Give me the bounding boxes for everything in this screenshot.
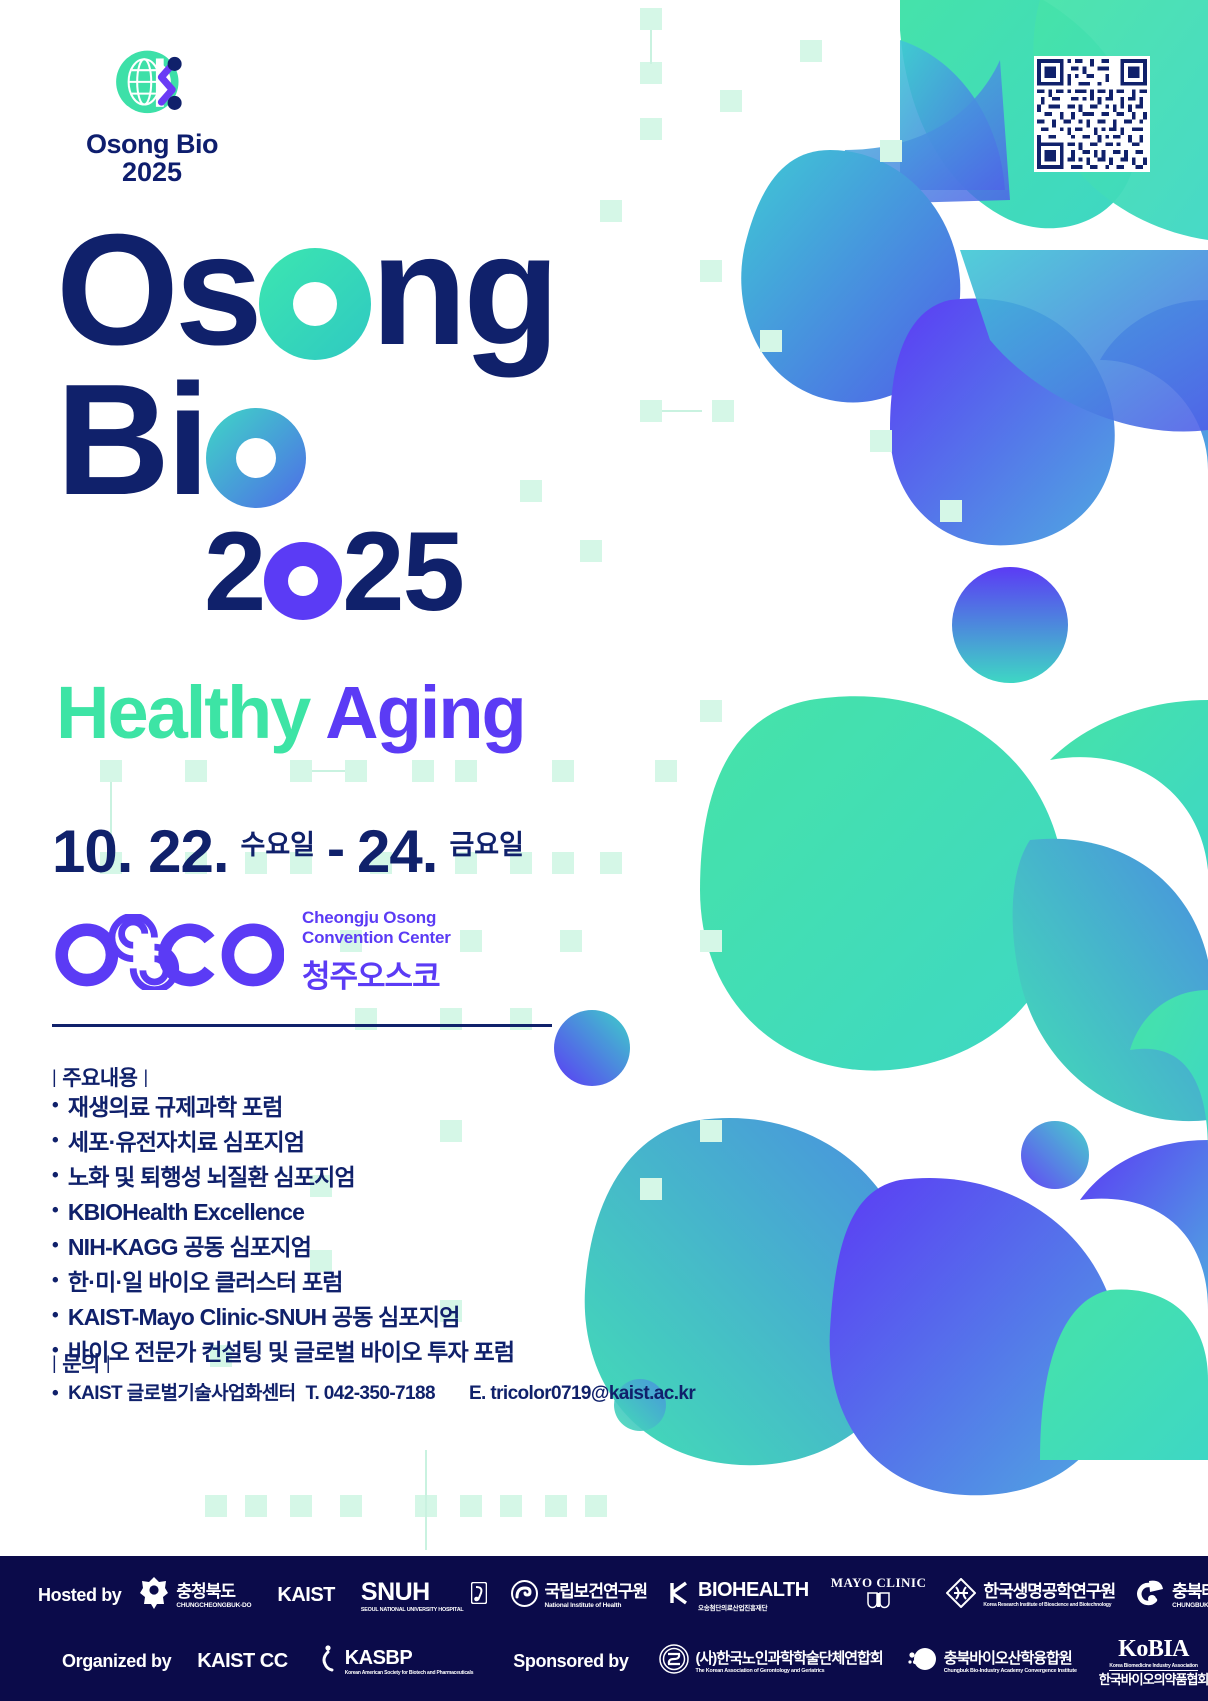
- venue-name-en-line1: Cheongju Osong: [302, 908, 451, 928]
- list-item: • 바이오 전문가 컨설팅 및 글로벌 바이오 투자 포럼: [52, 1335, 514, 1370]
- date-start-weekday: 수요일: [241, 823, 316, 862]
- subtitle-healthy: Healthy: [56, 671, 325, 754]
- globe-molecule-icon: [113, 46, 191, 124]
- logo-text-group: KAIST: [277, 1584, 335, 1607]
- chungbuk-technopark-icon: [1135, 1578, 1165, 1613]
- logo-name-sub: Chungbuk Bio-Industry Academy Convergenc…: [944, 1668, 1077, 1674]
- logo-name-sub: CHUNGCHEONGBUK-DO: [176, 1602, 251, 1609]
- list-item: • 노화 및 퇴행성 뇌질환 심포지엄: [52, 1160, 514, 1195]
- kaist-cc-logo[interactable]: KAIST CC: [197, 1650, 287, 1673]
- kribb-logo[interactable]: 한국생명공학연구원 Korea Research Institute of Bi…: [946, 1578, 1115, 1613]
- contact-phone[interactable]: T. 042-350-7188: [306, 1383, 435, 1405]
- logo-name-sub: Korea Biomedicine Industry Association: [1109, 1663, 1197, 1671]
- logo-name-sub: Korea Research Institute of Bioscience a…: [983, 1602, 1115, 1608]
- snuh-logo[interactable]: SNUH SEOUL NATIONAL UNIVERSITY HOSPITAL: [361, 1578, 487, 1613]
- contact-organization: KAIST 글로벌기술사업화센터: [68, 1378, 295, 1405]
- kbiohealth-k-icon: [669, 1581, 691, 1610]
- title-line-1: Osng: [56, 218, 756, 368]
- logo-name-sub: SEOUL NATIONAL UNIVERSITY HOSPITAL: [361, 1607, 464, 1613]
- contact-block: • KAIST 글로벌기술사업화센터 T. 042-350-7188 E. tr…: [52, 1378, 695, 1405]
- title-line-2-part-a: Bi: [56, 352, 206, 528]
- venue-text: Cheongju Osong Convention Center 청주오스코: [302, 908, 451, 996]
- list-item: • KBIOHealth Excellence: [52, 1195, 514, 1230]
- list-item-label: NIH-KAGG 공동 심포지엄: [68, 1230, 311, 1265]
- logo-name-en: MAYO CLINIC: [831, 1575, 927, 1591]
- list-item: • KAIST-Mayo Clinic-SNUH 공동 심포지엄: [52, 1300, 514, 1335]
- venue-block: Cheongju Osong Convention Center 청주오스코: [52, 908, 451, 996]
- mayo-shield-icon: [866, 1592, 892, 1617]
- venue-name-en-line2: Convention Center: [302, 928, 451, 948]
- kagg-icon: [659, 1644, 689, 1679]
- title-o-blue-icon: [206, 408, 306, 508]
- list-item-label: 노화 및 퇴행성 뇌질환 심포지엄: [68, 1160, 355, 1195]
- list-item-label: 한·미·일 바이오 클러스터 포럼: [68, 1265, 343, 1300]
- bracket-left: |: [52, 1353, 56, 1374]
- osco-logo-icon: [52, 914, 284, 990]
- nih-korea-logo[interactable]: 국립보건연구원 National Institute of Health: [511, 1580, 647, 1612]
- logo-text-group: 국립보건연구원 National Institute of Health: [545, 1583, 647, 1609]
- bullet-icon: •: [52, 1230, 58, 1261]
- logo-text-group: SNUH SEOUL NATIONAL UNIVERSITY HOSPITAL: [361, 1578, 464, 1613]
- bracket-left: |: [52, 1067, 56, 1088]
- sponsored-by-label: Sponsored by: [513, 1651, 628, 1672]
- title-year-25: 25: [342, 509, 463, 634]
- nih-korea-icon: [511, 1580, 538, 1612]
- title-line-3: 225: [204, 520, 756, 628]
- logo-text-group: KASBP Korean American Society for Biotec…: [345, 1647, 474, 1676]
- contact-email[interactable]: E. tricolor0719@kaist.ac.kr: [469, 1383, 695, 1405]
- logo-name-sub: Korean American Society for Biotech and …: [345, 1670, 474, 1676]
- logo-name-sub: The Korean Association of Gerontology an…: [696, 1668, 883, 1674]
- bullet-icon: •: [52, 1300, 58, 1331]
- list-item: • 재생의료 규제과학 포럼: [52, 1090, 514, 1125]
- list-item-label: 바이오 전문가 컨설팅 및 글로벌 바이오 투자 포럼: [68, 1335, 514, 1370]
- cbiaci-icon: [907, 1645, 937, 1678]
- program-list: • 재생의료 규제과학 포럼 • 세포·유전자치료 심포지엄 • 노화 및 퇴행…: [52, 1090, 514, 1370]
- brand-logo: Osong Bio 2025: [52, 46, 252, 187]
- logo-text-group: (사)한국노인과학학술단체연합회 The Korean Association …: [696, 1650, 883, 1674]
- logo-name-ko: (사)한국노인과학학술단체연합회: [696, 1650, 883, 1667]
- logo-name-en: KASBP: [345, 1647, 413, 1669]
- logo-name-sub: 오송첨단의료산업진흥재단: [698, 1602, 809, 1612]
- bullet-icon: •: [52, 1265, 58, 1296]
- list-item-label: KAIST-Mayo Clinic-SNUH 공동 심포지엄: [68, 1300, 460, 1335]
- qr-code-icon[interactable]: [1034, 56, 1150, 172]
- logo-name-en: SNUH: [361, 1578, 430, 1606]
- logo-name-en: KoBIA: [1118, 1636, 1189, 1663]
- brand-name: Osong Bio: [52, 130, 252, 158]
- date-end-weekday: 금요일: [449, 823, 524, 862]
- logo-text-group: 충청북도 CHUNGCHEONGBUK-DO: [176, 1583, 251, 1609]
- organized-sponsored-row: Organized by KAIST CC KASBP Korean Ameri…: [0, 1629, 1208, 1695]
- logo-text-group: BIOHEALTH 오송첨단의료산업진흥재단: [698, 1579, 809, 1612]
- title-line-1-part-b: ng: [371, 202, 556, 378]
- main-title: Osng Bi 225: [56, 218, 756, 628]
- cbiaci-logo[interactable]: 충북바이오산학융합원 Chungbuk Bio-Industry Academy…: [907, 1645, 1077, 1678]
- date-end: 24.: [357, 822, 437, 882]
- program-label-text: 주요내용: [62, 1062, 137, 1092]
- poster-root: Osong Bio 2025: [0, 0, 1208, 1701]
- sponsor-footer: Hosted by 충청북도 CHUNGCHEONGBUK-DO KAIST S…: [0, 1556, 1208, 1701]
- logo-name-ko: 충청북도: [176, 1582, 235, 1601]
- kasbp-logo[interactable]: KASBP Korean American Society for Biotec…: [318, 1645, 474, 1678]
- hosted-by-label: Hosted by: [38, 1585, 121, 1606]
- bullet-icon: •: [52, 1383, 58, 1405]
- hosted-by-row: Hosted by 충청북도 CHUNGCHEONGBUK-DO KAIST S…: [0, 1563, 1208, 1629]
- kobia-logo[interactable]: KoBIA Korea Biomedicine Industry Associa…: [1099, 1636, 1208, 1686]
- logo-name-en: BIOHEALTH: [698, 1579, 809, 1601]
- kagg-logo[interactable]: (사)한국노인과학학술단체연합회 The Korean Association …: [659, 1644, 883, 1679]
- event-date: 10. 22. 수요일 - 24. 금요일: [52, 818, 524, 882]
- logo-name-ko: 충북바이오산학융합원: [944, 1650, 1072, 1667]
- chungcheongbuk-do-icon: [139, 1576, 169, 1615]
- logo-name-en: KAIST CC: [197, 1650, 287, 1673]
- subtitle-aging: Aging: [325, 671, 525, 754]
- bracket-right: |: [106, 1353, 110, 1374]
- bullet-icon: •: [52, 1090, 58, 1121]
- list-item: • 한·미·일 바이오 클러스터 포럼: [52, 1265, 514, 1300]
- kribb-icon: [946, 1578, 976, 1613]
- list-item: • 세포·유전자치료 심포지엄: [52, 1125, 514, 1160]
- list-item-label: 세포·유전자치료 심포지엄: [68, 1125, 304, 1160]
- title-line-2: Bi: [56, 368, 756, 520]
- bullet-icon: •: [52, 1160, 58, 1191]
- contact-label-text: 문의: [62, 1348, 100, 1378]
- logo-text-group: 충북테크노파크 CHUNGBUK TECHNOPARK: [1172, 1583, 1208, 1609]
- logo-name-ko: 한국바이오의약품협회: [1099, 1673, 1208, 1686]
- logo-name-ko: 국립보건연구원: [545, 1582, 647, 1601]
- bullet-icon: •: [52, 1195, 58, 1226]
- logo-name-en: KAIST: [277, 1584, 335, 1606]
- chungcheongbuk-do-logo[interactable]: 충청북도 CHUNGCHEONGBUK-DO: [139, 1576, 251, 1615]
- logo-text-group: 충북바이오산학융합원 Chungbuk Bio-Industry Academy…: [944, 1650, 1077, 1674]
- chungbuk-technopark-logo[interactable]: 충북테크노파크 CHUNGBUK TECHNOPARK: [1135, 1578, 1208, 1613]
- venue-name-ko: 청주오스코: [302, 951, 451, 996]
- logo-text-group: 한국생명공학연구원 Korea Research Institute of Bi…: [983, 1583, 1115, 1608]
- logo-name-sub: National Institute of Health: [545, 1602, 647, 1609]
- list-item-label: KBIOHealth Excellence: [68, 1195, 304, 1230]
- logo-name-sub: CHUNGBUK TECHNOPARK: [1172, 1602, 1208, 1609]
- brand-year: 2025: [52, 158, 252, 186]
- subtitle: Healthy Aging: [56, 670, 525, 755]
- date-start: 10. 22.: [52, 822, 229, 882]
- program-section-label: | 주요내용 |: [52, 1062, 148, 1092]
- logo-name-ko: 한국생명공학연구원: [983, 1582, 1115, 1601]
- mayo-clinic-logo[interactable]: MAYO CLINIC: [831, 1575, 927, 1617]
- logo-name-ko: 충북테크노파크: [1172, 1582, 1208, 1601]
- date-dash: -: [327, 818, 345, 880]
- list-item: • NIH-KAGG 공동 심포지엄: [52, 1230, 514, 1265]
- organized-by-label: Organized by: [62, 1651, 171, 1672]
- title-year-2: 2: [204, 509, 264, 634]
- snuh-flag-icon: [471, 1582, 487, 1609]
- list-item-label: 재생의료 규제과학 포럼: [68, 1090, 283, 1125]
- section-divider: [52, 1024, 552, 1027]
- title-zero-purple-icon: [264, 542, 342, 620]
- contact-section-label: | 문의 |: [52, 1348, 110, 1378]
- bracket-right: |: [143, 1067, 147, 1088]
- kbiohealth-logo[interactable]: BIOHEALTH 오송첨단의료산업진흥재단: [669, 1579, 809, 1612]
- title-o-green-icon: [259, 248, 371, 360]
- bullet-icon: •: [52, 1125, 58, 1156]
- kaist-logo[interactable]: KAIST: [277, 1584, 335, 1607]
- kasbp-icon: [318, 1645, 338, 1678]
- contact-line: • KAIST 글로벌기술사업화센터 T. 042-350-7188 E. tr…: [52, 1378, 695, 1405]
